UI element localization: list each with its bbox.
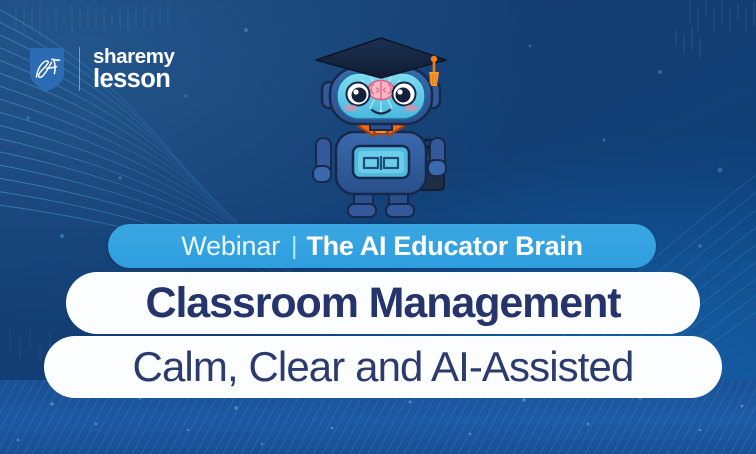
- headline-subtitle: Calm, Clear and AI-Assisted: [133, 343, 634, 391]
- logo-line-1: sharemy: [93, 47, 175, 67]
- badge-separator: |: [291, 232, 298, 261]
- headline-main: Classroom Management: [145, 279, 620, 328]
- webinar-badge: Webinar | The AI Educator Brain: [108, 224, 656, 268]
- robot-brain-icon: [368, 81, 394, 100]
- aft-shield-icon: [28, 46, 66, 92]
- logo-wordmark: sharemy lesson: [93, 47, 175, 92]
- logo-line-2: lesson: [93, 67, 175, 92]
- robot-torso: [336, 132, 426, 194]
- headline-subtitle-card: Calm, Clear and AI-Assisted: [44, 336, 722, 398]
- webinar-kicker: Webinar: [181, 231, 280, 262]
- graduate-robot-mascot: [296, 34, 466, 224]
- webinar-promo-poster: sharemy lesson: [0, 0, 756, 454]
- webinar-topic: The AI Educator Brain: [306, 231, 582, 262]
- headline-main-card: Classroom Management: [66, 272, 700, 334]
- logo-divider: [79, 47, 80, 91]
- brand-logo[interactable]: sharemy lesson: [28, 46, 175, 92]
